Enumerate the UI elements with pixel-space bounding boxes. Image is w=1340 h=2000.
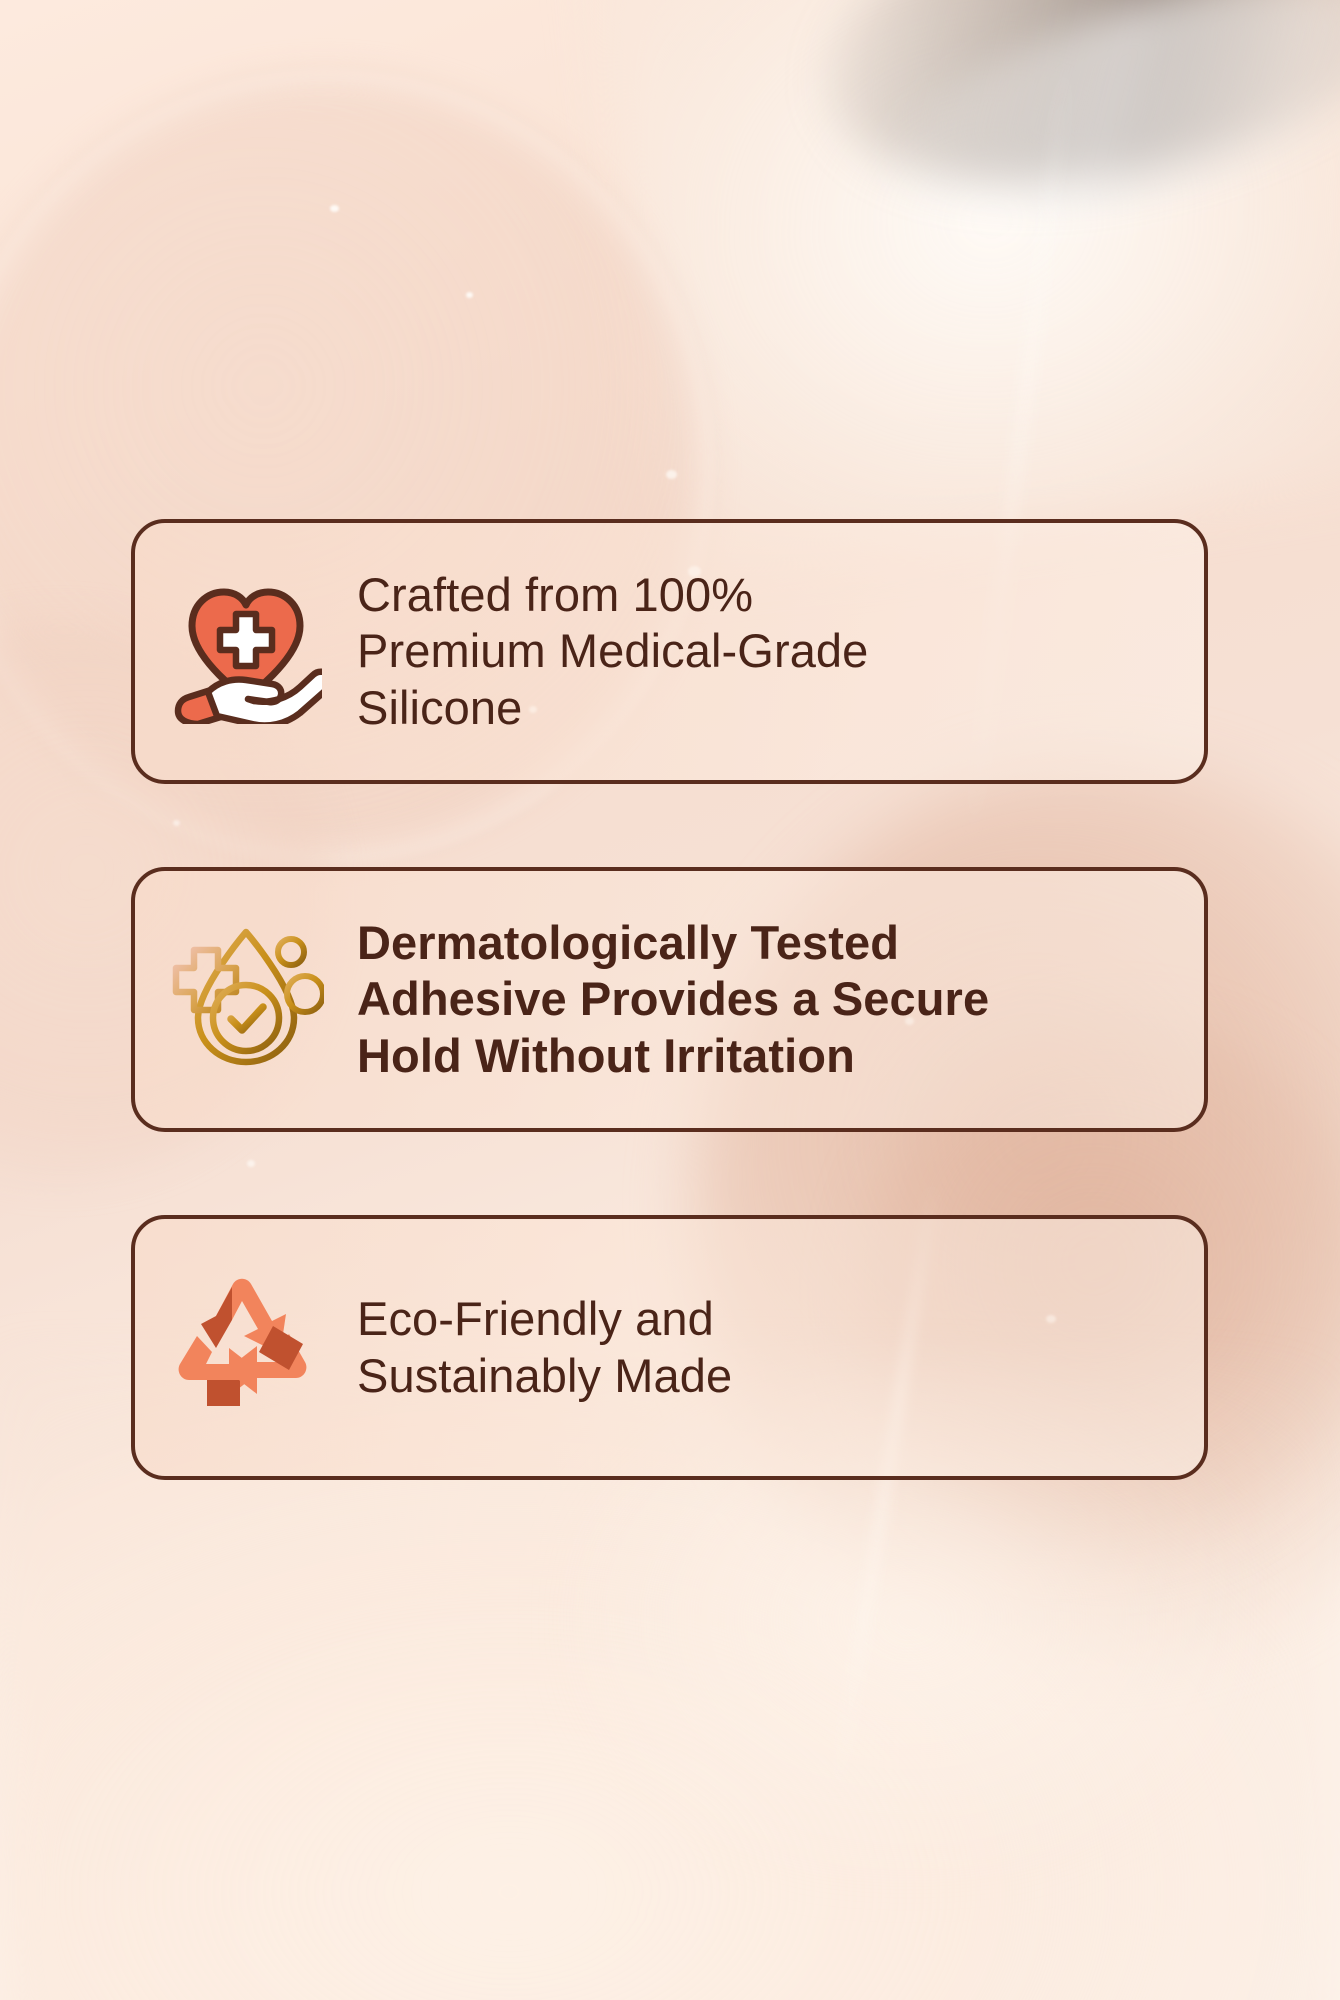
feature-card-adhesive: Dermatologically Tested Adhesive Provide… [131,867,1208,1132]
feature-poster: Crafted from 100% Premium Medical-Grade … [0,0,1340,2000]
feature-card-eco: Eco-Friendly and Sustainably Made [131,1215,1208,1480]
feature-card-label: Dermatologically Tested Adhesive Provide… [357,915,1204,1084]
feature-card-icon-slot [135,922,357,1077]
feature-card-icon-slot [135,574,357,729]
droplet-check-icon [168,922,324,1077]
recycle-icon [171,1272,321,1423]
feature-card-icon-slot [135,1272,357,1423]
feature-card-label: Eco-Friendly and Sustainably Made [357,1291,1204,1404]
feature-card-silicone: Crafted from 100% Premium Medical-Grade … [131,519,1208,784]
heart-in-hand-icon [170,574,322,729]
feature-card-label: Crafted from 100% Premium Medical-Grade … [357,567,1204,736]
